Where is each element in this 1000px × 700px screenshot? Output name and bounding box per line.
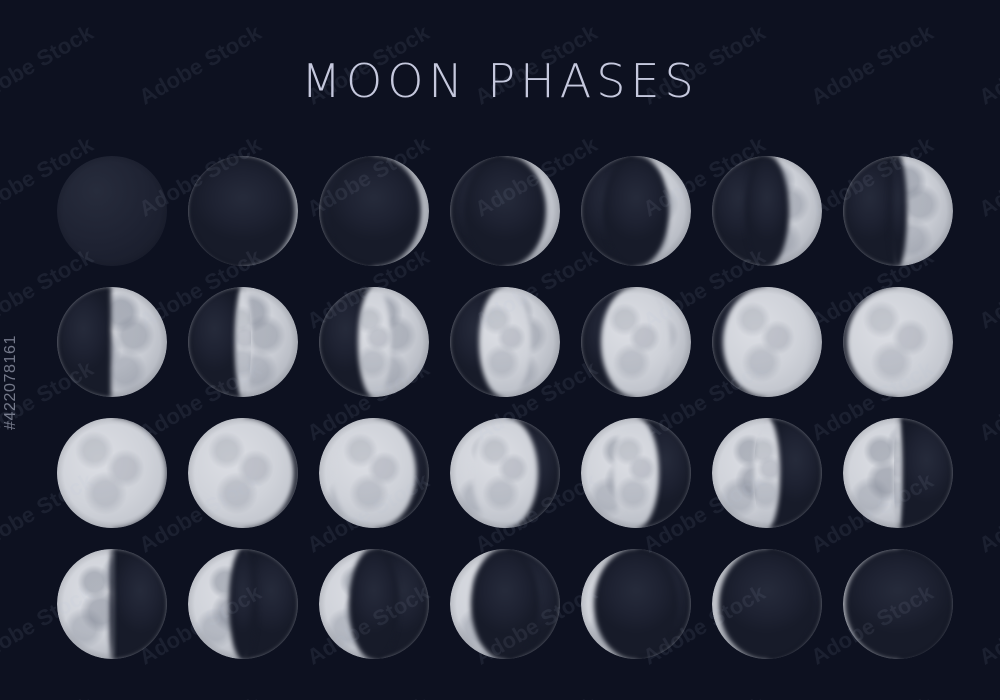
moon-terminator-lobe	[229, 549, 258, 659]
moon-terminator-lobe	[712, 418, 738, 528]
moon-terminator-lobe	[191, 156, 294, 266]
moon-waning-gibbous-5	[712, 418, 822, 528]
moon-waxing-gibbous-1	[188, 287, 298, 397]
moon-terminator-lobe	[603, 156, 669, 266]
moon-waning-crescent-1	[188, 549, 298, 659]
moon-terminator-lobe	[843, 418, 852, 528]
moon-waxing-crescent-6	[843, 156, 953, 266]
moon-waning-crescent-6	[843, 549, 953, 659]
moon-gibbous-texture	[358, 287, 391, 397]
moon-waxing-gibbous-5	[712, 287, 822, 397]
moon-terminator-lobe	[349, 549, 400, 659]
moon-terminator-lobe	[845, 549, 951, 659]
moon-waxing-gibbous-4	[581, 287, 691, 397]
moon-waxing-crescent-3	[450, 156, 560, 266]
moon-terminator-lobe	[594, 549, 678, 659]
moon-gibbous-texture	[613, 418, 659, 528]
moon-waning-gibbous-1	[188, 418, 298, 528]
moon-first-quarter	[57, 287, 167, 397]
moon-waning-crescent-3	[450, 549, 560, 659]
moon-gibbous-texture	[754, 418, 780, 528]
moon-waning-crescent-4	[581, 549, 691, 659]
moon-waxing-crescent-2	[319, 156, 429, 266]
moon-waxing-crescent-1	[188, 156, 298, 266]
moon-terminator-lobe	[889, 156, 907, 266]
moon-gibbous-texture	[479, 287, 532, 397]
asset-id-label: #422078161	[2, 335, 20, 430]
moon-waning-crescent-5	[712, 549, 822, 659]
moon-last-quarter	[57, 549, 167, 659]
moon-waxing-crescent-5	[712, 156, 822, 266]
moon-waning-gibbous-3	[450, 418, 560, 528]
moon-gibbous-texture	[472, 418, 538, 528]
moon-waning-crescent-2	[319, 549, 429, 659]
moon-waning-gibbous-2	[319, 418, 429, 528]
moon-shadow-half	[113, 549, 167, 659]
moon-gibbous-texture	[723, 287, 811, 397]
moon-full-moon	[57, 418, 167, 528]
page-title: MOON PHASES	[0, 55, 1000, 107]
moon-waxing-gibbous-2	[319, 287, 429, 397]
moon-terminator-lobe	[464, 156, 545, 266]
moon-terminator-lobe	[719, 549, 816, 659]
moon-waning-gibbous-6	[843, 418, 953, 528]
moon-dark-body	[57, 156, 167, 266]
moon-gibbous-texture	[57, 418, 167, 528]
moon-terminator-lobe	[327, 156, 422, 266]
moon-phases-poster: MOON PHASES Adobe StockAdobe StockAdobe …	[0, 0, 1000, 700]
moon-new-moon	[57, 156, 167, 266]
moon-terminator-lobe	[745, 156, 789, 266]
moon-waxing-gibbous-3	[450, 287, 560, 397]
moon-gibbous-texture	[235, 287, 250, 397]
moon-gibbous-texture	[332, 418, 416, 528]
moon-gibbous-texture	[847, 287, 948, 397]
moon-terminator-lobe	[471, 549, 539, 659]
moon-gibbous-texture	[192, 418, 293, 528]
moon-shadow-half	[899, 418, 953, 528]
moon-gibbous-texture	[601, 287, 671, 397]
moon-terminator-lobe	[319, 287, 352, 397]
moon-waning-gibbous-4	[581, 418, 691, 528]
moon-shadow-half	[57, 287, 111, 397]
moon-waxing-gibbous-6	[843, 287, 953, 397]
moon-waxing-crescent-4	[581, 156, 691, 266]
